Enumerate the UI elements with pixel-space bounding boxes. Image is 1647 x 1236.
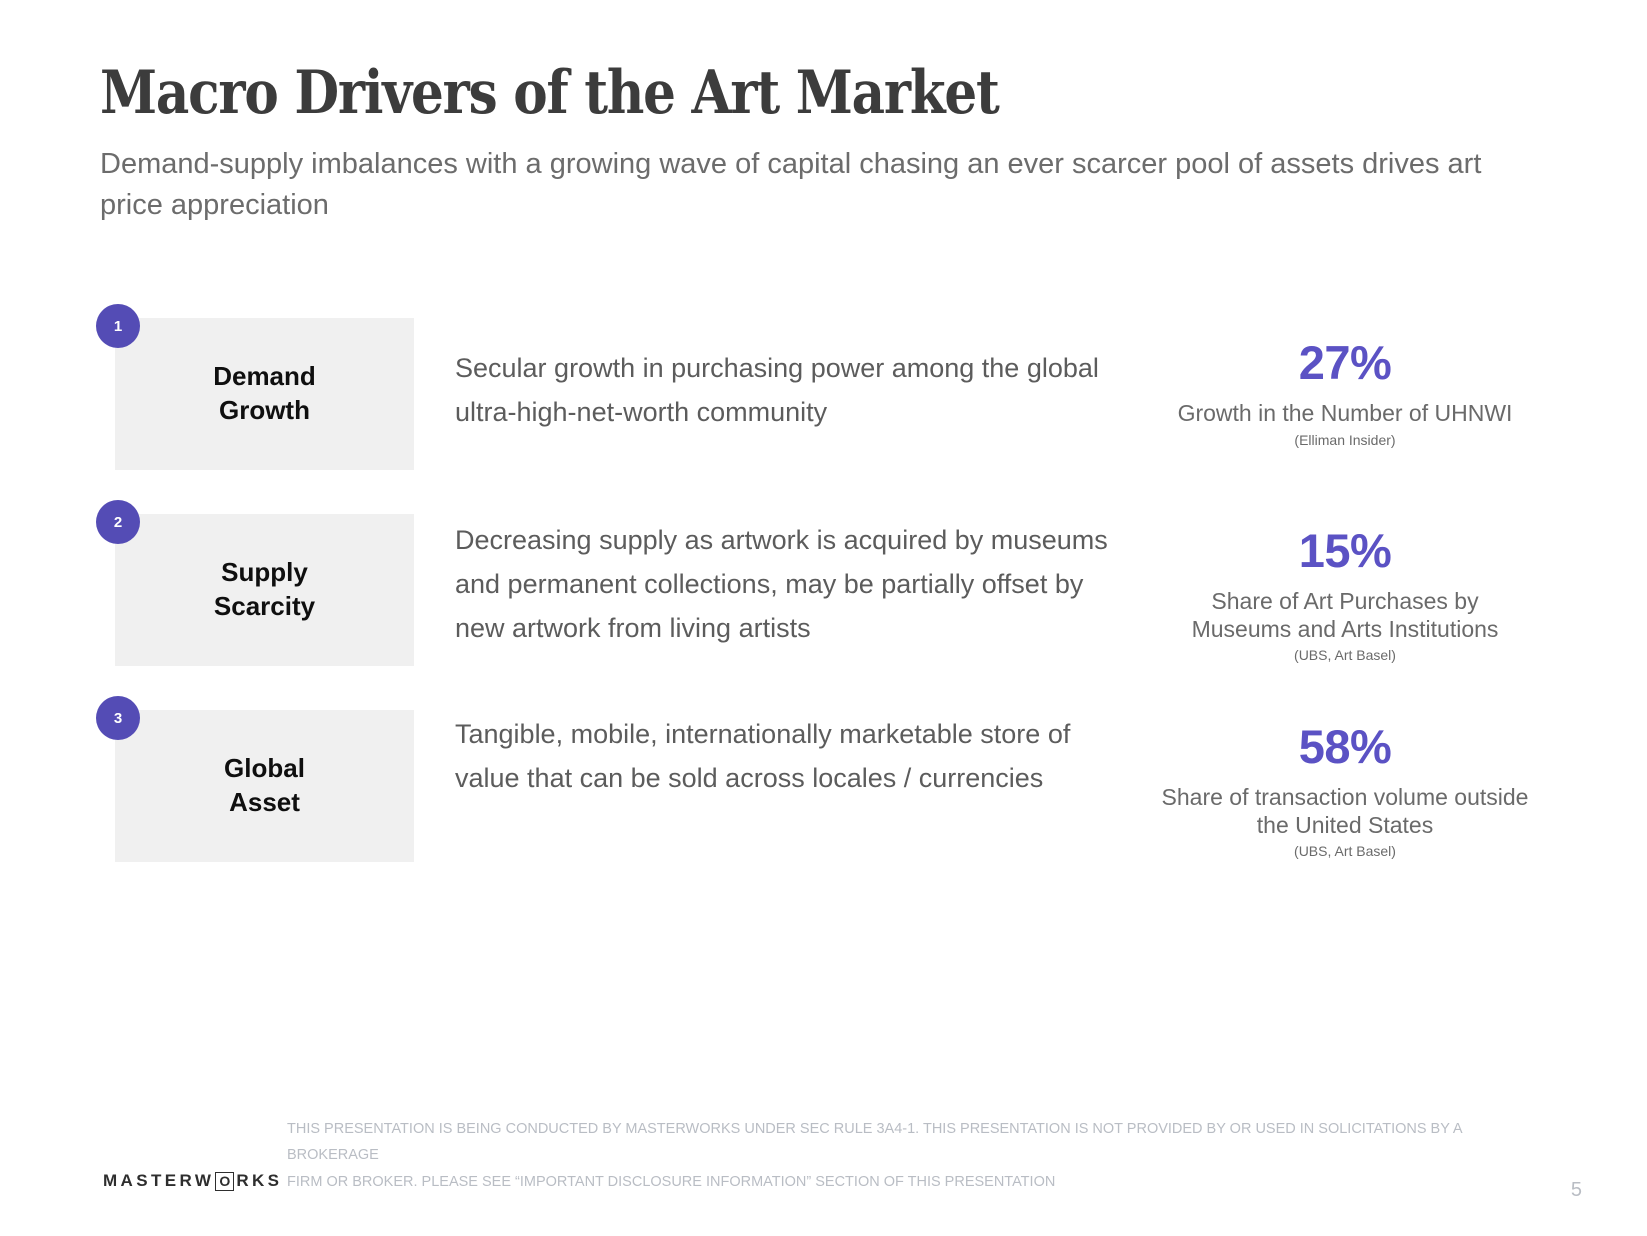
driver-number-badge: 2 xyxy=(96,500,140,544)
disclaimer-line-2: FIRM OR BROKER. PLEASE SEE “IMPORTANT DI… xyxy=(287,1169,1547,1196)
slide-root: Macro Drivers of the Art Market Demand-s… xyxy=(0,0,1647,1236)
driver-stat: 27% Growth in the Number of UHNWI (Ellim… xyxy=(1130,336,1560,448)
stat-source: (UBS, Art Basel) xyxy=(1130,647,1560,663)
driver-label-box: Supply Scarcity xyxy=(115,514,414,666)
drivers-list: 1 Demand Growth Secular growth in purcha… xyxy=(0,300,1647,888)
stat-caption: Growth in the Number of UHNWI xyxy=(1130,400,1560,428)
page-subtitle: Demand-supply imbalances with a growing … xyxy=(100,144,1500,226)
stat-value: 27% xyxy=(1130,336,1560,390)
driver-number-badge: 1 xyxy=(96,304,140,348)
stat-value: 15% xyxy=(1130,524,1560,578)
disclaimer-line-1: THIS PRESENTATION IS BEING CONDUCTED BY … xyxy=(287,1116,1547,1170)
driver-stat: 58% Share of transaction volume outside … xyxy=(1130,720,1560,859)
stat-source: (Elliman Insider) xyxy=(1130,432,1560,448)
driver-label-box: Demand Growth xyxy=(115,318,414,470)
driver-stat: 15% Share of Art Purchases by Museums an… xyxy=(1130,524,1560,663)
driver-row: 1 Demand Growth Secular growth in purcha… xyxy=(0,300,1647,496)
masterworks-logo: MASTERWORKS xyxy=(103,1171,282,1191)
logo-boxed-o-icon: O xyxy=(215,1172,234,1191)
stat-caption: Share of Art Purchases by Museums and Ar… xyxy=(1130,588,1560,643)
logo-text-after: RKS xyxy=(236,1171,282,1191)
stat-caption: Share of transaction volume outside the … xyxy=(1130,784,1560,839)
logo-text-before: MASTERW xyxy=(103,1171,214,1191)
page-number: 5 xyxy=(1571,1179,1582,1202)
driver-label-box: Global Asset xyxy=(115,710,414,862)
stat-source: (UBS, Art Basel) xyxy=(1130,843,1560,859)
page-title: Macro Drivers of the Art Market xyxy=(100,62,1356,126)
driver-label: Demand Growth xyxy=(213,360,316,428)
driver-label: Global Asset xyxy=(224,752,305,820)
driver-row: 2 Supply Scarcity Decreasing supply as a… xyxy=(0,496,1647,692)
slide-header: Macro Drivers of the Art Market Demand-s… xyxy=(100,62,1560,226)
driver-description: Tangible, mobile, internationally market… xyxy=(455,712,1115,800)
disclaimer-text: THIS PRESENTATION IS BEING CONDUCTED BY … xyxy=(287,1116,1547,1196)
slide-footer: MASTERWORKS THIS PRESENTATION IS BEING C… xyxy=(0,1126,1647,1236)
driver-description: Decreasing supply as artwork is acquired… xyxy=(455,518,1115,650)
stat-value: 58% xyxy=(1130,720,1560,774)
driver-label: Supply Scarcity xyxy=(214,556,315,624)
driver-row: 3 Global Asset Tangible, mobile, interna… xyxy=(0,692,1647,888)
driver-number-badge: 3 xyxy=(96,696,140,740)
driver-description: Secular growth in purchasing power among… xyxy=(455,346,1115,434)
